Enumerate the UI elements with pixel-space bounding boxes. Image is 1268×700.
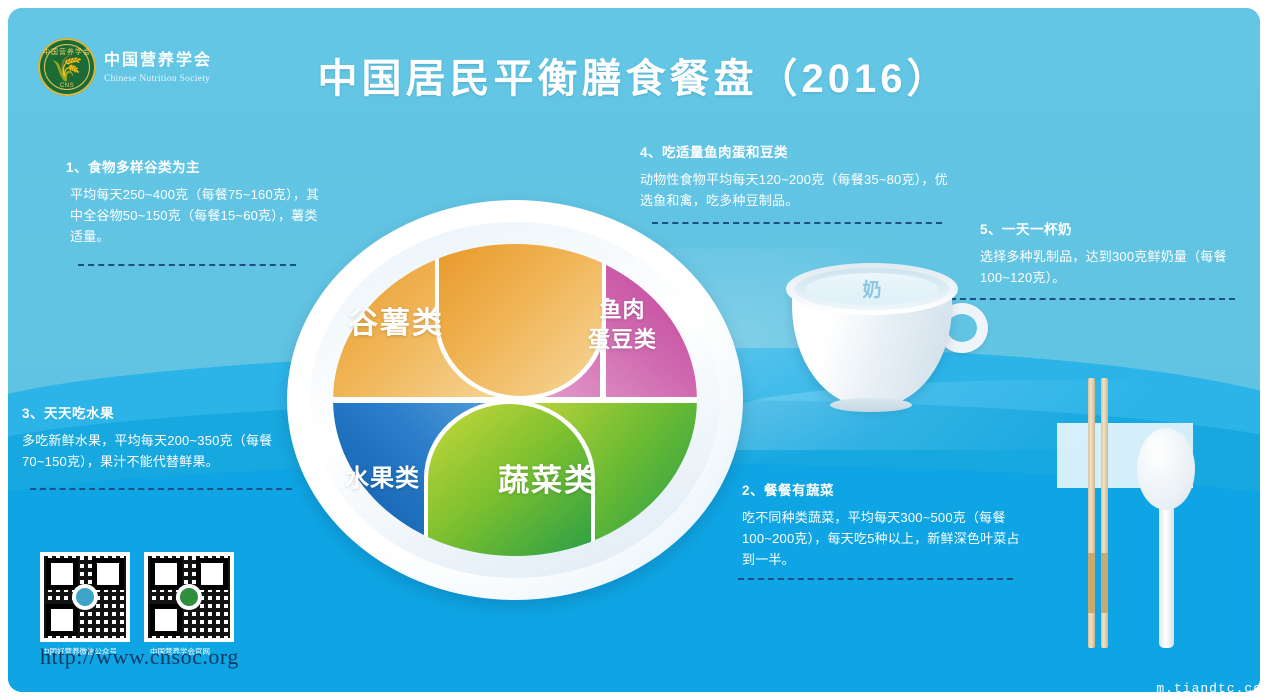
tip-3-body: 多吃新鲜水果，平均每天200~350克（每餐70~150克），果汁不能代替鲜果。 — [22, 430, 294, 472]
qr-center-logo — [72, 584, 98, 610]
infographic-canvas: 中国营养学会 🌾 CNS 中国营养学会 Chinese Nutrition So… — [0, 0, 1268, 700]
page-title: 中国居民平衡膳食餐盘（2016） — [0, 46, 1268, 104]
plate-label-vegetable: 蔬菜类 — [498, 455, 597, 500]
plate-s-lobe-grain — [439, 244, 602, 396]
plate-label-fruit: 水果类 — [345, 458, 420, 493]
qr-eye-tr — [196, 558, 228, 590]
qr-eye-bl — [150, 604, 182, 636]
website-url[interactable]: http://www.cnsoc.org — [40, 644, 239, 670]
tip-4-heading: 4、吃适量鱼肉蛋和豆类 — [640, 141, 950, 161]
chopstick-left-band — [1088, 553, 1095, 613]
plate-label-meat-line1: 鱼肉 — [588, 295, 657, 325]
spoon-handle — [1159, 500, 1174, 648]
plate-food-area — [333, 244, 698, 556]
qr-center-logo — [176, 584, 202, 610]
plate-label-grain: 谷薯类 — [348, 298, 444, 342]
tip-block-3: 3、天天吃水果 多吃新鲜水果，平均每天200~350克（每餐70~150克），果… — [22, 402, 294, 472]
tip-3-heading: 3、天天吃水果 — [22, 402, 294, 422]
qr-eye-tl — [150, 558, 182, 590]
tip-2-body: 吃不同种类蔬菜，平均每天300~500克（每餐100~200克），每天吃5种以上… — [742, 507, 1027, 570]
connector-line-1 — [78, 264, 296, 266]
qr-eye-bl — [46, 604, 78, 636]
plate-label-meat-line2: 蛋豆类 — [588, 325, 657, 355]
cup-foot — [830, 398, 912, 412]
balanced-diet-plate — [287, 200, 743, 600]
milk-cup-icon: 奶 — [786, 255, 996, 420]
tip-2-heading: 2、餐餐有蔬菜 — [742, 479, 1027, 499]
spoon-bowl-icon — [1137, 428, 1195, 510]
qr-eye-tl — [46, 558, 78, 590]
tip-block-5: 5、一天一杯奶 选择多种乳制品，达到300克鲜奶量（每餐100~120克）。 — [980, 218, 1255, 288]
cup-label: 奶 — [786, 275, 958, 302]
connector-line-3 — [30, 488, 292, 490]
tip-5-body: 选择多种乳制品，达到300克鲜奶量（每餐100~120克）。 — [980, 246, 1255, 288]
connector-line-2 — [738, 578, 1013, 580]
chopstick-right-band — [1101, 553, 1108, 613]
tip-5-heading: 5、一天一杯奶 — [980, 218, 1255, 238]
watermark-text: m.tiandtc.co — [1156, 681, 1262, 696]
qr-code-wechat[interactable] — [40, 552, 130, 642]
plate-label-meat: 鱼肉 蛋豆类 — [588, 295, 657, 354]
tip-block-2: 2、餐餐有蔬菜 吃不同种类蔬菜，平均每天300~500克（每餐100~200克）… — [742, 479, 1027, 570]
qr-code-website[interactable] — [144, 552, 234, 642]
tip-1-heading: 1、食物多样谷类为主 — [66, 156, 326, 176]
qr-eye-tr — [92, 558, 124, 590]
